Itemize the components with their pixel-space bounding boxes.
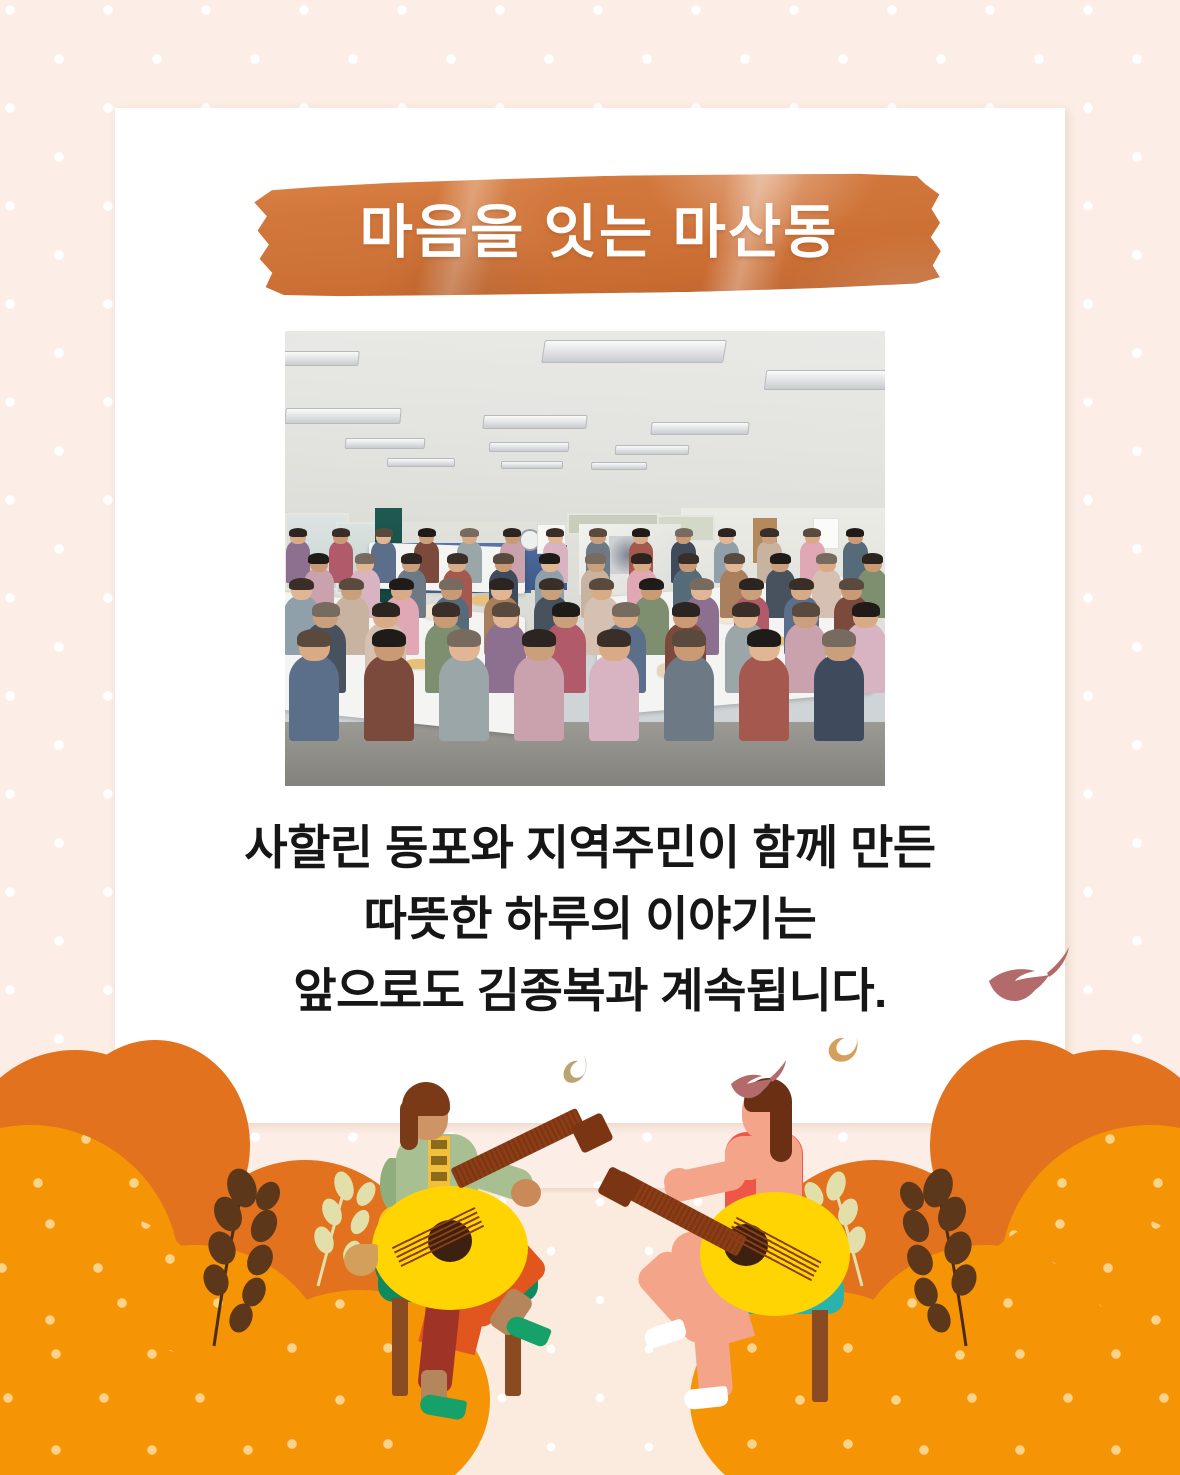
leaf-sprig-brown-icon [896, 1168, 994, 1348]
ceiling-light [541, 340, 727, 363]
photo-person [514, 654, 564, 741]
ceiling-light [764, 370, 885, 390]
musician-right-hair-strand [770, 1096, 792, 1162]
ceiling-light [387, 458, 455, 467]
photo-person-hair [339, 578, 364, 591]
photo-person-hair [672, 629, 706, 647]
event-photo [285, 331, 885, 786]
photo-person [439, 654, 489, 741]
photo-person-hair [289, 578, 314, 591]
photo-person-hair [631, 553, 652, 564]
photo-person-hair [389, 578, 414, 591]
photo-person-hair [822, 629, 856, 647]
photo-person-hair [852, 602, 880, 617]
photo-person-hair [418, 528, 436, 537]
photo-person-hair [539, 553, 560, 564]
photo-person [589, 654, 639, 741]
photo-person-hair [792, 602, 820, 617]
photo-person-hair [632, 528, 650, 537]
photo-person-hair [447, 553, 468, 564]
photo-person-hair [597, 629, 631, 647]
photo-person-hair [760, 528, 778, 537]
bench-leg [392, 1298, 408, 1396]
photo-person-hair [678, 553, 699, 564]
photo-person-hair [546, 528, 564, 537]
photo-person-hair [789, 578, 814, 591]
ceiling-light [591, 462, 647, 470]
photo-person-hair [585, 553, 606, 564]
photo-person-hair [739, 578, 764, 591]
photo-person [364, 654, 414, 741]
decor-leaf-gold [344, 1244, 378, 1276]
photo-person-hair [589, 528, 607, 537]
ceiling-light [489, 442, 570, 452]
ceiling-light [285, 408, 402, 424]
ceiling-light [615, 445, 690, 455]
musician-right-hand [664, 1168, 694, 1196]
photo-person [289, 654, 339, 741]
photo-person-hair [770, 553, 791, 564]
photo-person-hair [846, 528, 864, 537]
photo-person-hair [612, 602, 640, 617]
button [431, 1172, 447, 1181]
photo-person-hair [552, 602, 580, 617]
photo-person-hair [447, 629, 481, 647]
photo-person-hair [522, 629, 556, 647]
photo-person-hair [493, 553, 514, 564]
photo-person-hair [503, 528, 521, 537]
photo-person-hair [639, 578, 664, 591]
bench-leg [812, 1310, 828, 1402]
photo-person-hair [747, 629, 781, 647]
photo-person [664, 654, 714, 741]
ceiling-light [285, 351, 360, 366]
ceiling-light [482, 415, 587, 429]
photo-person-hair [372, 602, 400, 617]
title-tape-banner: 마음을 잇는 마산동 [255, 168, 945, 308]
photo-person [814, 654, 864, 741]
button [431, 1140, 447, 1149]
photo-person-hair [689, 578, 714, 591]
photo-person-hair [401, 553, 422, 564]
photo-person-hair [460, 528, 478, 537]
photo-person-hair [375, 528, 393, 537]
photo-person-hair [732, 602, 760, 617]
button [431, 1156, 447, 1165]
photo-person-hair [489, 578, 514, 591]
maple-leaf-mauve-large-icon [985, 945, 1077, 1007]
ceiling-light [345, 438, 426, 449]
maple-leaf-mauve-small-icon [728, 1060, 788, 1102]
photo-person-hair [816, 553, 837, 564]
photo-person-hair [539, 578, 564, 591]
leaf-sprig-brown-icon [186, 1168, 284, 1348]
photo-person-hair [675, 528, 693, 537]
photo-person-hair [289, 528, 307, 537]
page-title: 마음을 잇는 마산동 [255, 168, 943, 286]
musician-left-hand [511, 1179, 541, 1207]
photo-person-hair [297, 629, 331, 647]
photo-person-hair [839, 578, 864, 591]
crescent-leaf-tan-icon [562, 1053, 590, 1085]
photo-person [739, 654, 789, 741]
photo-person-hair [492, 602, 520, 617]
photo-person-hair [439, 578, 464, 591]
photo-person-hair [312, 602, 340, 617]
photo-person-hair [724, 553, 745, 564]
musician-left-hair-strand [400, 1100, 418, 1150]
bottom-illustration [0, 1040, 1180, 1475]
photo-person-hair [432, 602, 460, 617]
ceiling-light [650, 422, 749, 435]
photo-person-hair [332, 528, 350, 537]
body-line-1: 사할린 동포와 지역주민이 함께 만든 [150, 812, 1030, 883]
crescent-leaf-gold-icon [826, 1032, 862, 1064]
photo-person-hair [718, 528, 736, 537]
photo-person-hair [803, 528, 821, 537]
photo-person-hair [355, 553, 376, 564]
photo-person-hair [308, 553, 329, 564]
body-line-2: 따뜻한 하루의 이야기는 [150, 883, 1030, 954]
photo-person-hair [672, 602, 700, 617]
photo-person-hair [372, 629, 406, 647]
photo-person-hair [862, 553, 883, 564]
body-text: 사할린 동포와 지역주민이 함께 만든 따뜻한 하루의 이야기는 앞으로도 김종… [150, 812, 1030, 1026]
photo-person-hair [589, 578, 614, 591]
body-line-3: 앞으로도 김종복과 계속됩니다. [150, 955, 1030, 1026]
ceiling-light [501, 461, 563, 469]
